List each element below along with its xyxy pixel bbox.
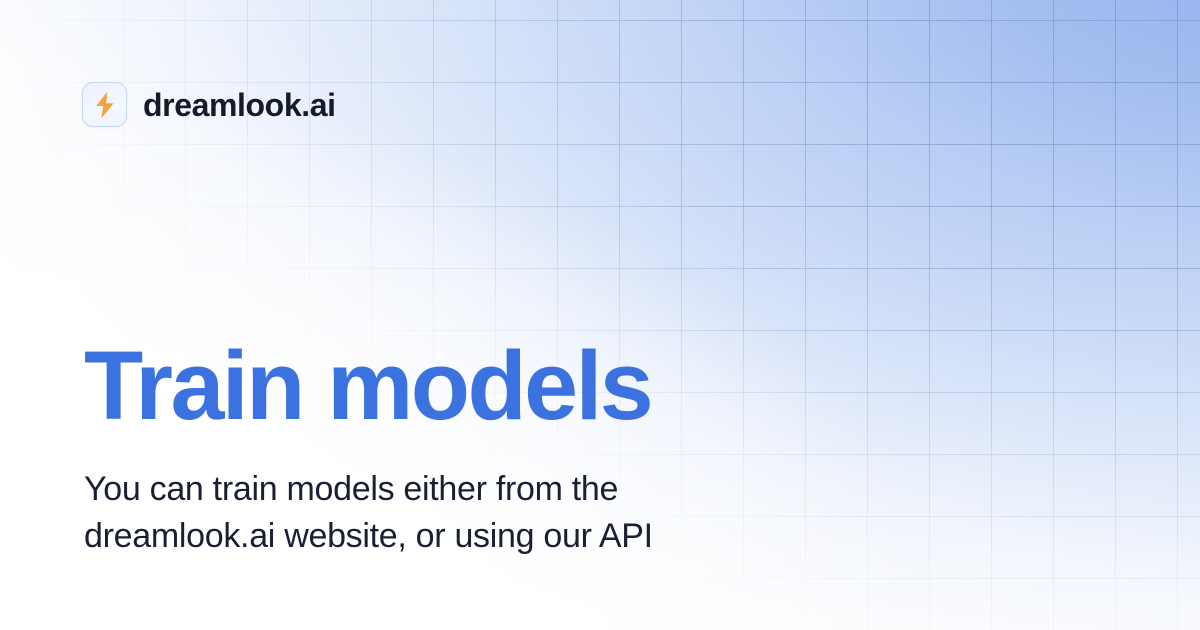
brand-name: dreamlook.ai: [143, 89, 336, 121]
logo-badge: [82, 82, 127, 127]
page-title: Train models: [84, 337, 651, 434]
brand-lockup[interactable]: dreamlook.ai: [82, 82, 336, 127]
subtitle-line-2: dreamlook.ai website, or using our API: [84, 513, 653, 560]
lightning-bolt-icon: [93, 91, 117, 119]
og-banner: dreamlook.ai Train models You can train …: [0, 0, 1200, 630]
page-subtitle: You can train models either from the dre…: [84, 466, 653, 560]
banner-content: dreamlook.ai Train models You can train …: [0, 0, 1200, 630]
subtitle-line-1: You can train models either from the: [84, 466, 653, 513]
